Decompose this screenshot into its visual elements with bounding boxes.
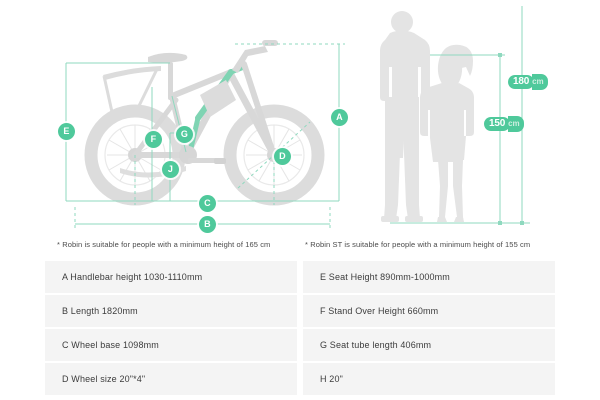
height-label-180-unit: cm (532, 74, 548, 90)
spec-row-c: C Wheel base 1098mm (45, 329, 297, 361)
person-silhouettes (380, 11, 474, 222)
spec-row-e: E Seat Height 890mm-1000mm (303, 261, 555, 293)
footnote-robin-st: * Robin ST is suitable for people with a… (305, 240, 530, 249)
callout-e[interactable]: E (58, 123, 75, 140)
callout-a[interactable]: A (331, 109, 348, 126)
spec-row-h: H 20" (303, 363, 555, 395)
callout-c[interactable]: C (199, 195, 216, 212)
footnote-robin: * Robin is suitable for people with a mi… (57, 240, 270, 249)
spec-row-f: F Stand Over Height 660mm (303, 295, 555, 327)
spec-row-d: D Wheel size 20"*4" (45, 363, 297, 395)
callout-d[interactable]: D (274, 148, 291, 165)
spec-column-right: E Seat Height 890mm-1000mm F Stand Over … (303, 261, 555, 400)
callout-b[interactable]: B (199, 216, 216, 233)
bike-geometry-spec-page: A B C D E F G J 180 cm 150 cm * Robin is… (0, 0, 600, 400)
height-label-180-value: 180 (508, 75, 534, 90)
spec-column-left: A Handlebar height 1030-1110mm B Length … (45, 261, 297, 400)
callout-f[interactable]: F (145, 131, 162, 148)
bike-silhouette (91, 40, 318, 199)
callout-j[interactable]: J (162, 161, 179, 178)
geometry-diagram: A B C D E F G J 180 cm 150 cm (0, 0, 600, 232)
height-label-150: 150 cm (484, 116, 524, 132)
height-label-150-value: 150 (484, 117, 510, 132)
footnotes: * Robin is suitable for people with a mi… (0, 234, 600, 260)
spec-row-b: B Length 1820mm (45, 295, 297, 327)
callout-g[interactable]: G (176, 126, 193, 143)
height-label-150-unit: cm (508, 116, 524, 132)
spec-row-g: G Seat tube length 406mm (303, 329, 555, 361)
spec-row-a: A Handlebar height 1030-1110mm (45, 261, 297, 293)
spec-table: A Handlebar height 1030-1110mm B Length … (0, 261, 600, 400)
height-label-180: 180 cm (508, 74, 548, 90)
